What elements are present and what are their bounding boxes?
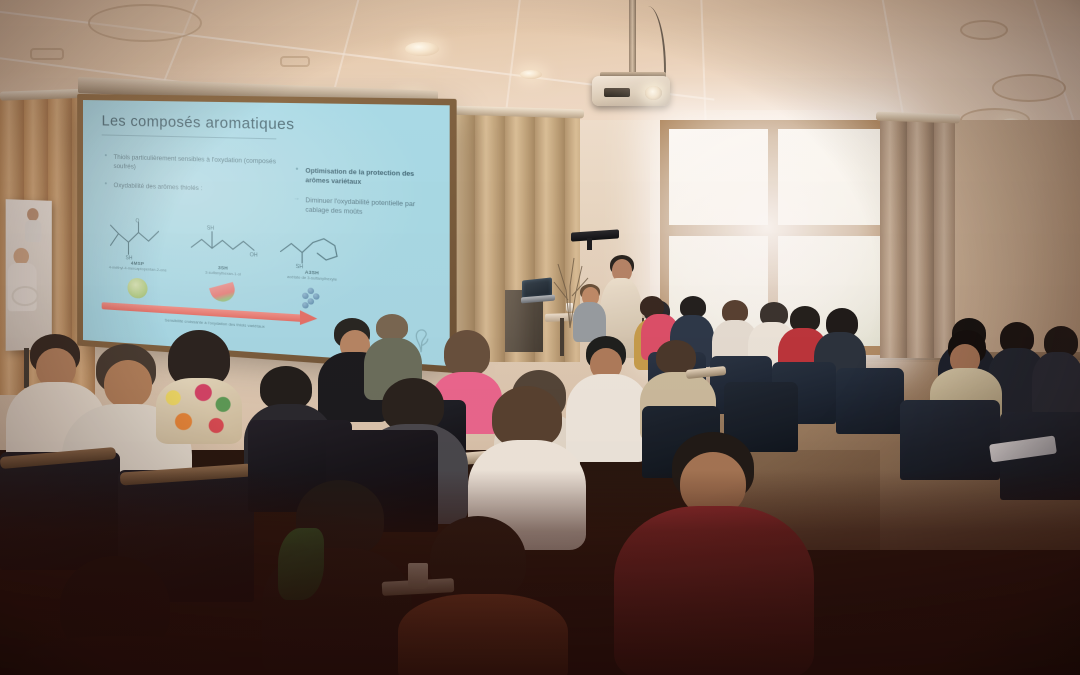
slide-bullet: Optimisation de la protection des arômes…	[293, 166, 440, 190]
chair	[836, 368, 904, 434]
aroma-icon-slot	[270, 282, 355, 314]
aroma-icon-slot	[99, 273, 177, 304]
chair	[900, 400, 1000, 480]
svg-text:OH: OH	[249, 252, 257, 259]
presentation-room-photo: Les composés aromatiques Thiols particul…	[0, 0, 1080, 675]
banner-stand-pole	[24, 348, 29, 388]
projector-vent-icon	[604, 88, 630, 97]
ceiling-vent-icon	[992, 74, 1066, 102]
svg-text:O: O	[135, 218, 139, 224]
coffee-cup	[408, 563, 428, 589]
slide-bullets-left: Thiols particulièrement sensibles à l'ox…	[103, 153, 286, 206]
curtain-right	[880, 118, 955, 358]
ceiling-speaker-icon	[280, 56, 310, 67]
chair	[0, 452, 120, 570]
molecule-structure-3sh: SH OH	[185, 218, 262, 267]
citrus-icon	[127, 277, 147, 298]
roll-up-banner	[6, 199, 52, 351]
slide-bullets-right: Optimisation de la protection des arômes…	[293, 166, 440, 230]
svg-text:SH: SH	[206, 225, 214, 232]
molecule-structure-4msp: SH O	[99, 215, 173, 263]
grapes-icon	[302, 287, 322, 309]
ceiling-light	[405, 42, 439, 56]
molecule-structure-a3sh: SH	[274, 222, 355, 272]
ceiling-vent-icon	[960, 20, 1008, 40]
ceiling-vent-icon	[88, 4, 202, 42]
ceiling-light	[520, 70, 542, 79]
slide-bullet: Diminuer l'oxydabilité potentielle par c…	[293, 195, 440, 220]
slide-bullet: Oxydabilité des arômes thiolés :	[103, 180, 286, 196]
plant-foliage	[278, 528, 324, 600]
arrow-head-icon	[300, 310, 317, 326]
projector-lens-icon	[645, 86, 662, 100]
slide-bullet: Thiols particulièrement sensibles à l'ox…	[103, 153, 286, 177]
ceiling-speaker-icon	[30, 48, 64, 60]
projector-mount-pole	[629, 0, 636, 78]
melon-icon	[209, 282, 238, 304]
aroma-icon-slot	[183, 277, 264, 309]
slide-title: Les composés aromatiques	[102, 113, 295, 133]
slide-title-underline	[102, 134, 277, 139]
